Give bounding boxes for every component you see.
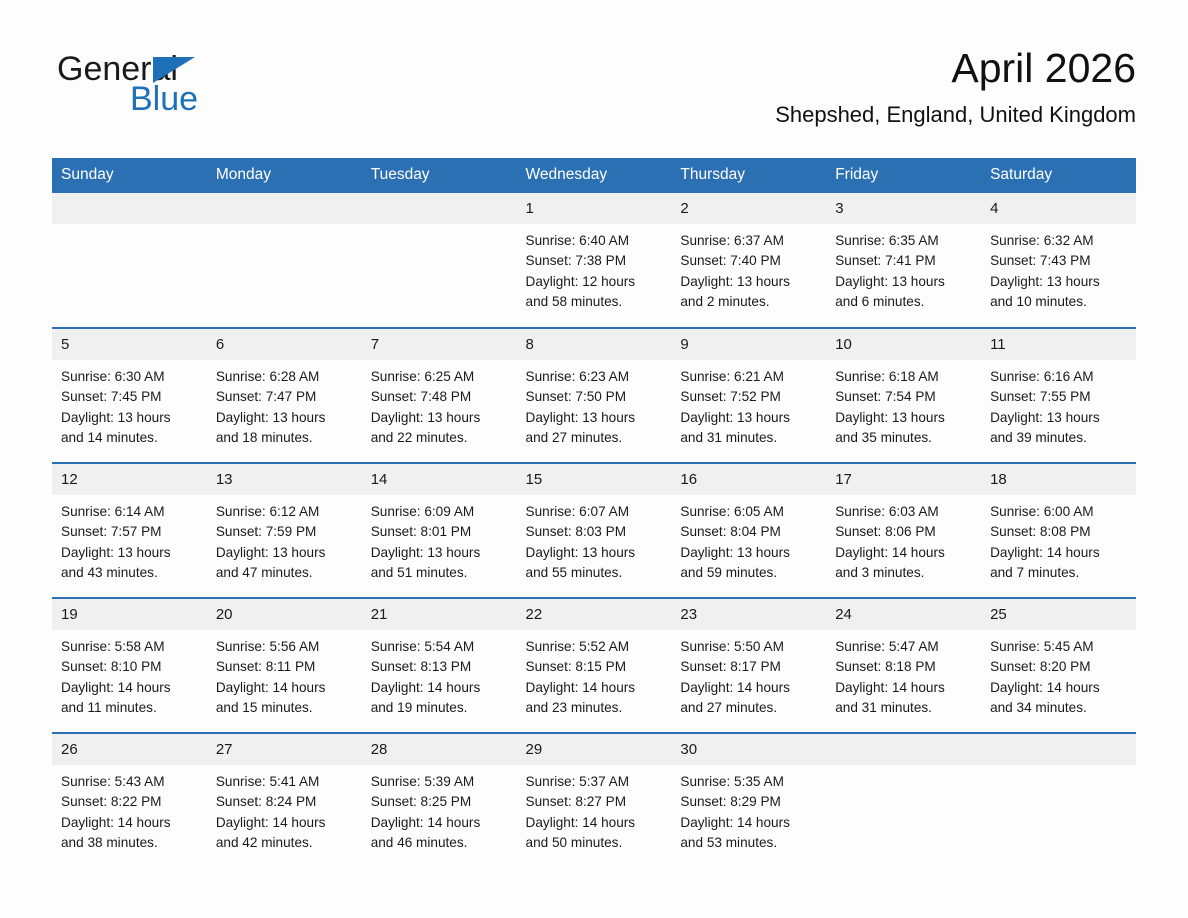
calendar-day-cell[interactable]: 15Sunrise: 6:07 AMSunset: 8:03 PMDayligh… [517,463,672,598]
sunset-time: Sunset: 8:03 PM [526,522,664,542]
calendar-day-cell[interactable]: 12Sunrise: 6:14 AMSunset: 7:57 PMDayligh… [52,463,207,598]
daylight-duration-line2: and 22 minutes. [371,428,509,448]
daylight-duration-line1: Daylight: 13 hours [990,408,1128,428]
daylight-duration-line1: Daylight: 13 hours [216,408,354,428]
day-details: Sunrise: 6:05 AMSunset: 8:04 PMDaylight:… [671,495,826,583]
logo-text-blue: Blue [130,80,198,119]
daylight-duration-line1: Daylight: 13 hours [680,543,818,563]
calendar-day-cell[interactable]: 11Sunrise: 6:16 AMSunset: 7:55 PMDayligh… [981,328,1136,463]
daylight-duration-line2: and 46 minutes. [371,833,509,853]
daylight-duration-line2: and 59 minutes. [680,563,818,583]
sunrise-time: Sunrise: 6:28 AM [216,367,354,387]
calendar-day-cell[interactable]: 7Sunrise: 6:25 AMSunset: 7:48 PMDaylight… [362,328,517,463]
day-number: 7 [362,329,517,360]
day-number: 2 [671,193,826,224]
sunrise-time: Sunrise: 6:32 AM [990,231,1128,251]
sunset-time: Sunset: 8:22 PM [61,792,199,812]
sunset-time: Sunset: 8:13 PM [371,657,509,677]
calendar-day-cell[interactable]: 20Sunrise: 5:56 AMSunset: 8:11 PMDayligh… [207,598,362,733]
day-number: 11 [981,329,1136,360]
calendar-day-cell[interactable]: 18Sunrise: 6:00 AMSunset: 8:08 PMDayligh… [981,463,1136,598]
calendar-day-cell[interactable]: 26Sunrise: 5:43 AMSunset: 8:22 PMDayligh… [52,733,207,868]
day-number: 22 [517,599,672,630]
daylight-duration-line2: and 31 minutes. [835,698,973,718]
calendar-week-row: 5Sunrise: 6:30 AMSunset: 7:45 PMDaylight… [52,328,1136,463]
calendar-day-cell[interactable]: 17Sunrise: 6:03 AMSunset: 8:06 PMDayligh… [826,463,981,598]
calendar-day-cell[interactable]: 28Sunrise: 5:39 AMSunset: 8:25 PMDayligh… [362,733,517,868]
daylight-duration-line2: and 35 minutes. [835,428,973,448]
daylight-duration-line1: Daylight: 13 hours [526,543,664,563]
day-details: Sunrise: 6:09 AMSunset: 8:01 PMDaylight:… [362,495,517,583]
day-number: 25 [981,599,1136,630]
sunset-time: Sunset: 8:17 PM [680,657,818,677]
daylight-duration-line1: Daylight: 14 hours [835,678,973,698]
day-number: 3 [826,193,981,224]
sunrise-time: Sunrise: 5:56 AM [216,637,354,657]
day-number: 14 [362,464,517,495]
calendar-day-cell-empty [207,193,362,328]
sunrise-time: Sunrise: 5:54 AM [371,637,509,657]
sunrise-time: Sunrise: 5:41 AM [216,772,354,792]
sunset-time: Sunset: 7:48 PM [371,387,509,407]
daylight-duration-line2: and 51 minutes. [371,563,509,583]
daylight-duration-line1: Daylight: 13 hours [526,408,664,428]
day-details: Sunrise: 6:25 AMSunset: 7:48 PMDaylight:… [362,360,517,448]
day-number: 23 [671,599,826,630]
sunset-time: Sunset: 8:11 PM [216,657,354,677]
sunset-time: Sunset: 8:06 PM [835,522,973,542]
sunrise-time: Sunrise: 6:30 AM [61,367,199,387]
day-number: 26 [52,734,207,765]
calendar-day-cell[interactable]: 24Sunrise: 5:47 AMSunset: 8:18 PMDayligh… [826,598,981,733]
day-number [207,193,362,224]
day-number: 13 [207,464,362,495]
calendar-day-cell[interactable]: 23Sunrise: 5:50 AMSunset: 8:17 PMDayligh… [671,598,826,733]
calendar-day-cell[interactable]: 27Sunrise: 5:41 AMSunset: 8:24 PMDayligh… [207,733,362,868]
day-details: Sunrise: 5:35 AMSunset: 8:29 PMDaylight:… [671,765,826,853]
daylight-duration-line1: Daylight: 14 hours [680,813,818,833]
daylight-duration-line1: Daylight: 14 hours [216,678,354,698]
sunset-time: Sunset: 8:25 PM [371,792,509,812]
day-details: Sunrise: 5:43 AMSunset: 8:22 PMDaylight:… [52,765,207,853]
weekday-header-thursday: Thursday [671,158,826,193]
calendar-day-cell[interactable]: 21Sunrise: 5:54 AMSunset: 8:13 PMDayligh… [362,598,517,733]
daylight-duration-line1: Daylight: 13 hours [680,272,818,292]
day-number: 21 [362,599,517,630]
daylight-duration-line2: and 2 minutes. [680,292,818,312]
sunrise-time: Sunrise: 6:35 AM [835,231,973,251]
calendar-day-cell[interactable]: 2Sunrise: 6:37 AMSunset: 7:40 PMDaylight… [671,193,826,328]
page-header: General Blue April 2026 Shepshed, Englan… [0,0,1188,112]
daylight-duration-line1: Daylight: 14 hours [371,813,509,833]
sunset-time: Sunset: 7:41 PM [835,251,973,271]
sunset-time: Sunset: 7:55 PM [990,387,1128,407]
day-number: 17 [826,464,981,495]
day-number: 6 [207,329,362,360]
calendar-day-cell[interactable]: 3Sunrise: 6:35 AMSunset: 7:41 PMDaylight… [826,193,981,328]
sunrise-time: Sunrise: 6:40 AM [526,231,664,251]
day-details: Sunrise: 5:52 AMSunset: 8:15 PMDaylight:… [517,630,672,718]
sunrise-time: Sunrise: 6:00 AM [990,502,1128,522]
daylight-duration-line2: and 39 minutes. [990,428,1128,448]
calendar-day-cell[interactable]: 5Sunrise: 6:30 AMSunset: 7:45 PMDaylight… [52,328,207,463]
day-number [826,734,981,765]
daylight-duration-line2: and 3 minutes. [835,563,973,583]
calendar-week-row: 19Sunrise: 5:58 AMSunset: 8:10 PMDayligh… [52,598,1136,733]
day-details: Sunrise: 6:12 AMSunset: 7:59 PMDaylight:… [207,495,362,583]
daylight-duration-line2: and 31 minutes. [680,428,818,448]
sunrise-time: Sunrise: 6:16 AM [990,367,1128,387]
weekday-header-saturday: Saturday [981,158,1136,193]
daylight-duration-line1: Daylight: 14 hours [61,678,199,698]
sunrise-time: Sunrise: 6:21 AM [680,367,818,387]
sunrise-time: Sunrise: 5:39 AM [371,772,509,792]
calendar-day-cell[interactable]: 25Sunrise: 5:45 AMSunset: 8:20 PMDayligh… [981,598,1136,733]
daylight-duration-line2: and 42 minutes. [216,833,354,853]
calendar-day-cell-empty [362,193,517,328]
calendar-week-row: 1Sunrise: 6:40 AMSunset: 7:38 PMDaylight… [52,193,1136,328]
daylight-duration-line1: Daylight: 14 hours [990,543,1128,563]
day-details: Sunrise: 5:39 AMSunset: 8:25 PMDaylight:… [362,765,517,853]
calendar-day-cell[interactable]: 22Sunrise: 5:52 AMSunset: 8:15 PMDayligh… [517,598,672,733]
sunrise-time: Sunrise: 6:14 AM [61,502,199,522]
weekday-header-monday: Monday [207,158,362,193]
day-details: Sunrise: 6:23 AMSunset: 7:50 PMDaylight:… [517,360,672,448]
sunrise-time: Sunrise: 5:43 AM [61,772,199,792]
daylight-duration-line2: and 34 minutes. [990,698,1128,718]
day-details: Sunrise: 6:35 AMSunset: 7:41 PMDaylight:… [826,224,981,312]
sunset-time: Sunset: 7:45 PM [61,387,199,407]
day-details: Sunrise: 6:03 AMSunset: 8:06 PMDaylight:… [826,495,981,583]
daylight-duration-line2: and 58 minutes. [526,292,664,312]
day-details: Sunrise: 5:56 AMSunset: 8:11 PMDaylight:… [207,630,362,718]
calendar-day-cell[interactable]: 13Sunrise: 6:12 AMSunset: 7:59 PMDayligh… [207,463,362,598]
sunrise-time: Sunrise: 6:07 AM [526,502,664,522]
daylight-duration-line2: and 43 minutes. [61,563,199,583]
daylight-duration-line2: and 18 minutes. [216,428,354,448]
weekday-header-friday: Friday [826,158,981,193]
daylight-duration-line2: and 38 minutes. [61,833,199,853]
calendar-day-cell[interactable]: 1Sunrise: 6:40 AMSunset: 7:38 PMDaylight… [517,193,672,328]
calendar-body: 1Sunrise: 6:40 AMSunset: 7:38 PMDaylight… [52,193,1136,868]
calendar-day-cell-empty [826,733,981,868]
calendar-page: General Blue April 2026 Shepshed, Englan… [0,0,1188,918]
day-number: 5 [52,329,207,360]
calendar-day-cell[interactable]: 10Sunrise: 6:18 AMSunset: 7:54 PMDayligh… [826,328,981,463]
day-details: Sunrise: 6:30 AMSunset: 7:45 PMDaylight:… [52,360,207,448]
daylight-duration-line2: and 27 minutes. [526,428,664,448]
sunrise-time: Sunrise: 6:23 AM [526,367,664,387]
weekday-header-wednesday: Wednesday [517,158,672,193]
sunrise-time: Sunrise: 5:52 AM [526,637,664,657]
calendar-day-cell[interactable]: 14Sunrise: 6:09 AMSunset: 8:01 PMDayligh… [362,463,517,598]
day-number: 19 [52,599,207,630]
calendar-day-cell-empty [981,733,1136,868]
daylight-duration-line2: and 50 minutes. [526,833,664,853]
daylight-duration-line2: and 23 minutes. [526,698,664,718]
day-details: Sunrise: 6:21 AMSunset: 7:52 PMDaylight:… [671,360,826,448]
sunset-time: Sunset: 7:52 PM [680,387,818,407]
sunrise-time: Sunrise: 5:37 AM [526,772,664,792]
weekday-header-tuesday: Tuesday [362,158,517,193]
calendar-day-cell[interactable]: 19Sunrise: 5:58 AMSunset: 8:10 PMDayligh… [52,598,207,733]
title-block: April 2026 Shepshed, England, United Kin… [775,44,1136,130]
sunset-time: Sunset: 8:27 PM [526,792,664,812]
daylight-duration-line1: Daylight: 14 hours [835,543,973,563]
day-details: Sunrise: 6:16 AMSunset: 7:55 PMDaylight:… [981,360,1136,448]
daylight-duration-line2: and 19 minutes. [371,698,509,718]
sunrise-sunset-calendar: Sunday Monday Tuesday Wednesday Thursday… [52,158,1136,868]
day-number: 1 [517,193,672,224]
day-details: Sunrise: 6:18 AMSunset: 7:54 PMDaylight:… [826,360,981,448]
sunrise-time: Sunrise: 5:50 AM [680,637,818,657]
sunset-time: Sunset: 7:57 PM [61,522,199,542]
daylight-duration-line1: Daylight: 14 hours [371,678,509,698]
daylight-duration-line1: Daylight: 13 hours [61,408,199,428]
calendar-week-row: 12Sunrise: 6:14 AMSunset: 7:57 PMDayligh… [52,463,1136,598]
daylight-duration-line1: Daylight: 13 hours [371,408,509,428]
calendar-week-row: 26Sunrise: 5:43 AMSunset: 8:22 PMDayligh… [52,733,1136,868]
sunset-time: Sunset: 7:47 PM [216,387,354,407]
sunset-time: Sunset: 8:08 PM [990,522,1128,542]
day-number [981,734,1136,765]
sunrise-time: Sunrise: 5:35 AM [680,772,818,792]
sunrise-time: Sunrise: 6:12 AM [216,502,354,522]
daylight-duration-line1: Daylight: 12 hours [526,272,664,292]
day-details: Sunrise: 5:41 AMSunset: 8:24 PMDaylight:… [207,765,362,853]
daylight-duration-line2: and 14 minutes. [61,428,199,448]
day-number: 24 [826,599,981,630]
day-number: 29 [517,734,672,765]
page-subtitle: Shepshed, England, United Kingdom [775,100,1136,130]
daylight-duration-line1: Daylight: 14 hours [526,813,664,833]
sunset-time: Sunset: 8:01 PM [371,522,509,542]
sunrise-time: Sunrise: 6:03 AM [835,502,973,522]
day-details: Sunrise: 6:07 AMSunset: 8:03 PMDaylight:… [517,495,672,583]
calendar-day-cell-empty [52,193,207,328]
day-number [52,193,207,224]
day-details: Sunrise: 6:14 AMSunset: 7:57 PMDaylight:… [52,495,207,583]
sunset-time: Sunset: 8:20 PM [990,657,1128,677]
sunset-time: Sunset: 7:54 PM [835,387,973,407]
day-number: 4 [981,193,1136,224]
general-blue-logo[interactable]: General Blue [57,50,287,120]
daylight-duration-line1: Daylight: 13 hours [990,272,1128,292]
daylight-duration-line2: and 55 minutes. [526,563,664,583]
daylight-duration-line2: and 11 minutes. [61,698,199,718]
sunrise-time: Sunrise: 6:18 AM [835,367,973,387]
sunrise-time: Sunrise: 5:45 AM [990,637,1128,657]
day-number: 15 [517,464,672,495]
day-number: 9 [671,329,826,360]
sunset-time: Sunset: 8:10 PM [61,657,199,677]
day-number: 18 [981,464,1136,495]
sunset-time: Sunset: 8:24 PM [216,792,354,812]
sunset-time: Sunset: 7:50 PM [526,387,664,407]
day-number: 28 [362,734,517,765]
sunrise-time: Sunrise: 6:37 AM [680,231,818,251]
page-title: April 2026 [775,44,1136,92]
weekday-header-sunday: Sunday [52,158,207,193]
daylight-duration-line1: Daylight: 14 hours [61,813,199,833]
day-number: 30 [671,734,826,765]
calendar-day-cell[interactable]: 16Sunrise: 6:05 AMSunset: 8:04 PMDayligh… [671,463,826,598]
sunrise-time: Sunrise: 6:05 AM [680,502,818,522]
sunrise-time: Sunrise: 5:58 AM [61,637,199,657]
sunset-time: Sunset: 7:59 PM [216,522,354,542]
day-number [362,193,517,224]
daylight-duration-line2: and 27 minutes. [680,698,818,718]
day-number: 20 [207,599,362,630]
day-number: 12 [52,464,207,495]
day-details: Sunrise: 6:40 AMSunset: 7:38 PMDaylight:… [517,224,672,312]
day-number: 8 [517,329,672,360]
sunrise-time: Sunrise: 5:47 AM [835,637,973,657]
calendar-day-cell[interactable]: 6Sunrise: 6:28 AMSunset: 7:47 PMDaylight… [207,328,362,463]
daylight-duration-line1: Daylight: 13 hours [835,408,973,428]
day-details: Sunrise: 5:47 AMSunset: 8:18 PMDaylight:… [826,630,981,718]
calendar-day-cell[interactable]: 9Sunrise: 6:21 AMSunset: 7:52 PMDaylight… [671,328,826,463]
sunrise-time: Sunrise: 6:25 AM [371,367,509,387]
sunset-time: Sunset: 8:29 PM [680,792,818,812]
day-details: Sunrise: 6:32 AMSunset: 7:43 PMDaylight:… [981,224,1136,312]
day-details: Sunrise: 5:50 AMSunset: 8:17 PMDaylight:… [671,630,826,718]
day-details: Sunrise: 6:00 AMSunset: 8:08 PMDaylight:… [981,495,1136,583]
day-number: 27 [207,734,362,765]
day-details: Sunrise: 5:58 AMSunset: 8:10 PMDaylight:… [52,630,207,718]
calendar-day-cell[interactable]: 29Sunrise: 5:37 AMSunset: 8:27 PMDayligh… [517,733,672,868]
sunset-time: Sunset: 8:18 PM [835,657,973,677]
sunset-time: Sunset: 7:40 PM [680,251,818,271]
daylight-duration-line2: and 7 minutes. [990,563,1128,583]
calendar-day-cell[interactable]: 8Sunrise: 6:23 AMSunset: 7:50 PMDaylight… [517,328,672,463]
day-number: 16 [671,464,826,495]
calendar-day-cell[interactable]: 4Sunrise: 6:32 AMSunset: 7:43 PMDaylight… [981,193,1136,328]
day-details: Sunrise: 5:45 AMSunset: 8:20 PMDaylight:… [981,630,1136,718]
sunset-time: Sunset: 7:43 PM [990,251,1128,271]
daylight-duration-line1: Daylight: 13 hours [61,543,199,563]
daylight-duration-line1: Daylight: 13 hours [835,272,973,292]
daylight-duration-line1: Daylight: 14 hours [990,678,1128,698]
daylight-duration-line1: Daylight: 14 hours [216,813,354,833]
day-number: 10 [826,329,981,360]
daylight-duration-line2: and 6 minutes. [835,292,973,312]
sunset-time: Sunset: 8:04 PM [680,522,818,542]
daylight-duration-line1: Daylight: 13 hours [680,408,818,428]
sunrise-time: Sunrise: 6:09 AM [371,502,509,522]
sunset-time: Sunset: 7:38 PM [526,251,664,271]
daylight-duration-line1: Daylight: 13 hours [371,543,509,563]
daylight-duration-line2: and 53 minutes. [680,833,818,853]
sunset-time: Sunset: 8:15 PM [526,657,664,677]
daylight-duration-line2: and 47 minutes. [216,563,354,583]
calendar-header-row: Sunday Monday Tuesday Wednesday Thursday… [52,158,1136,193]
daylight-duration-line1: Daylight: 14 hours [526,678,664,698]
daylight-duration-line2: and 10 minutes. [990,292,1128,312]
daylight-duration-line1: Daylight: 13 hours [216,543,354,563]
day-details: Sunrise: 5:37 AMSunset: 8:27 PMDaylight:… [517,765,672,853]
day-details: Sunrise: 6:28 AMSunset: 7:47 PMDaylight:… [207,360,362,448]
calendar-day-cell[interactable]: 30Sunrise: 5:35 AMSunset: 8:29 PMDayligh… [671,733,826,868]
day-details: Sunrise: 5:54 AMSunset: 8:13 PMDaylight:… [362,630,517,718]
day-details: Sunrise: 6:37 AMSunset: 7:40 PMDaylight:… [671,224,826,312]
daylight-duration-line1: Daylight: 14 hours [680,678,818,698]
daylight-duration-line2: and 15 minutes. [216,698,354,718]
